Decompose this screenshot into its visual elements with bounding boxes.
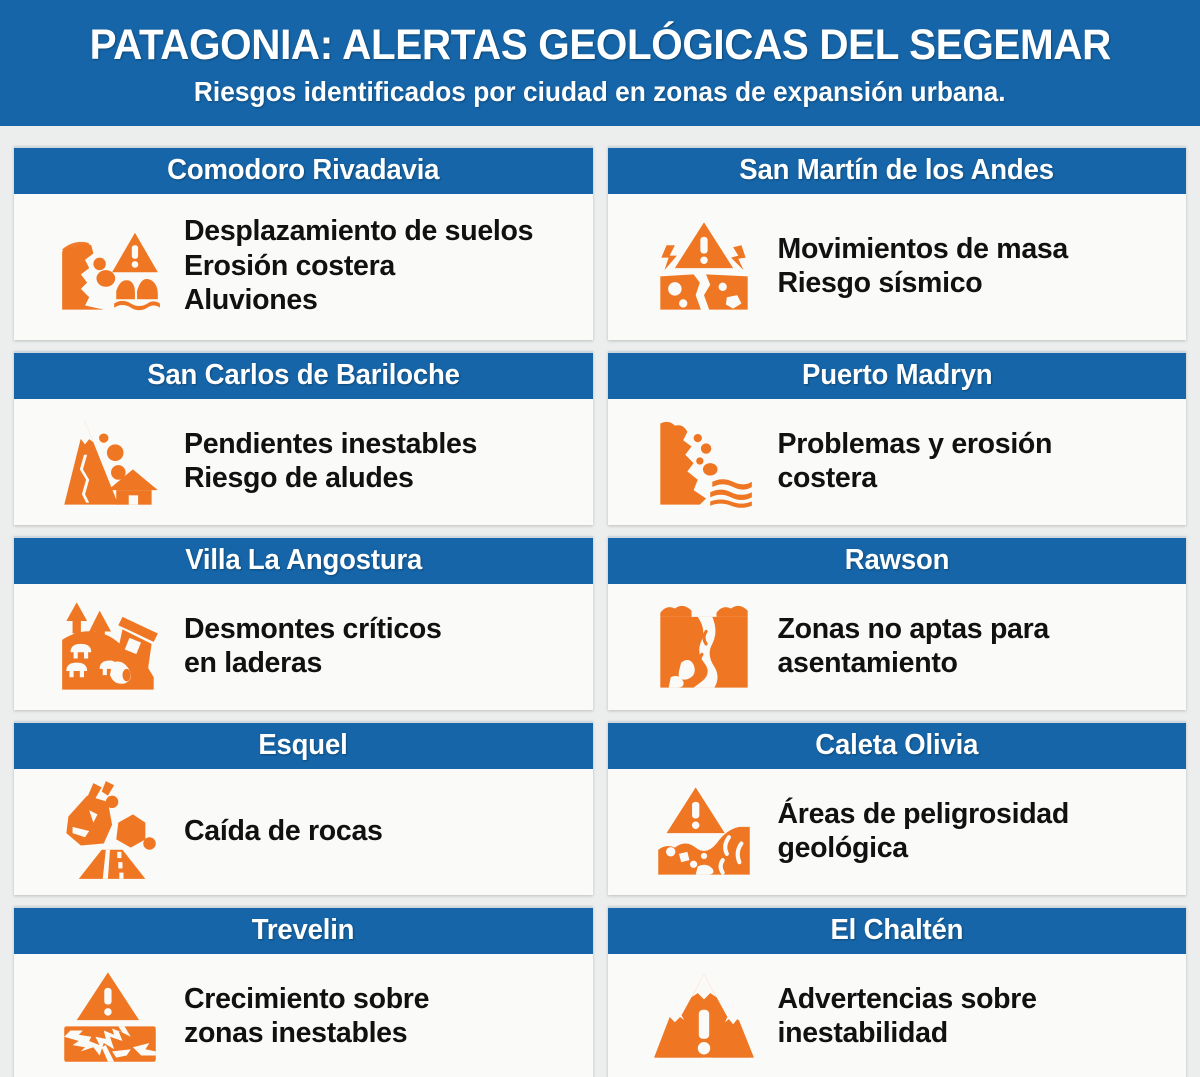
risk-list: Áreas de peligrosidad geológica [778,797,1177,866]
card-body: Desplazamiento de suelos Erosión costera… [14,194,593,340]
page-subtitle: Riesgos identificados por ciudad en zona… [194,77,1006,108]
risk-item: Riesgo de aludes [184,461,583,495]
risk-item: geológica [778,831,1177,865]
risk-item: Crecimiento sobre [184,982,583,1016]
risk-item: Aluviones [184,283,583,317]
page-title: PATAGONIA: ALERTAS GEOLÓGICAS DEL SEGEMA… [89,23,1110,68]
city-card-villa-la-angostura[interactable]: Villa La Angostura [14,536,593,710]
risk-item: zonas inestables [184,1016,583,1050]
risk-list: Caída de rocas [184,814,583,848]
card-body: Problemas y erosión costera [608,399,1187,525]
risk-list: Crecimiento sobre zonas inestables [184,982,583,1051]
card-body: Advertencias sobre inestabilidad [608,954,1187,1077]
city-name: Rawson [845,544,950,577]
card-title-bar: Trevelin [14,906,593,954]
coastal-landslide-warning-icon [58,214,162,318]
card-body: Áreas de peligrosidad geológica [608,769,1187,895]
card-body: Movimientos de masa Riesgo sísmico [608,194,1187,340]
card-title-bar: Caleta Olivia [608,721,1187,769]
city-name: San Carlos de Bariloche [147,359,460,392]
city-card-trevelin[interactable]: Trevelin Crecimiento so [14,906,593,1077]
city-card-san-carlos-de-bariloche[interactable]: San Carlos de Bariloche [14,351,593,525]
rockfall-road-icon [58,779,162,883]
risk-item: Advertencias sobre [778,982,1177,1016]
infographic-page: PATAGONIA: ALERTAS GEOLÓGICAS DEL SEGEMA… [0,0,1200,1077]
risk-list: Zonas no aptas para asentamiento [778,612,1177,681]
city-card-caleta-olivia[interactable]: Caleta Olivia [608,721,1187,895]
mountain-warning-icon [652,964,756,1068]
card-title-bar: Rawson [608,536,1187,584]
city-alert-grid: Comodoro Rivadavia [0,126,1200,1077]
cracked-ground-warning-icon [58,964,162,1068]
card-title-bar: Puerto Madryn [608,351,1187,399]
card-title-bar: Comodoro Rivadavia [14,146,593,194]
risk-item: Pendientes inestables [184,427,583,461]
risk-item: Desplazamiento de suelos [184,214,583,248]
city-name: Puerto Madryn [802,359,992,392]
risk-item: asentamiento [778,646,1177,680]
seismic-warning-icon [652,214,756,318]
risk-list: Movimientos de masa Riesgo sísmico [778,232,1177,301]
geological-hazard-terrain-icon [652,779,756,883]
city-name: Villa La Angostura [185,544,422,577]
risk-item: Riesgo sísmico [778,266,1177,300]
risk-list: Desplazamiento de suelos Erosión costera… [184,214,583,317]
card-title-bar: El Chaltén [608,906,1187,954]
city-name: El Chaltén [830,914,963,947]
mountain-rockfall-house-icon [58,409,162,513]
city-card-puerto-madryn[interactable]: Puerto Madryn Problemas [608,351,1187,525]
risk-item: Caída de rocas [184,814,583,848]
risk-list: Desmontes críticos en laderas [184,612,583,681]
page-header: PATAGONIA: ALERTAS GEOLÓGICAS DEL SEGEMA… [0,0,1200,126]
risk-list: Advertencias sobre inestabilidad [778,982,1177,1051]
risk-item: en laderas [184,646,583,680]
card-title-bar: San Martín de los Andes [608,146,1187,194]
city-card-esquel[interactable]: Esquel [14,721,593,895]
city-name: Trevelin [252,914,355,947]
city-name: Comodoro Rivadavia [167,154,439,187]
hillside-deforestation-icon [58,594,162,698]
city-card-el-chalten[interactable]: El Chaltén Advertencias [608,906,1187,1077]
risk-item: Problemas y erosión [778,427,1177,461]
risk-list: Pendientes inestables Riesgo de aludes [184,427,583,496]
card-body: Caída de rocas [14,769,593,895]
risk-item: Desmontes críticos [184,612,583,646]
card-body: Zonas no aptas para asentamiento [608,584,1187,710]
card-title-bar: Esquel [14,721,593,769]
river-floodplain-icon [652,594,756,698]
card-body: Pendientes inestables Riesgo de aludes [14,399,593,525]
city-card-comodoro-rivadavia[interactable]: Comodoro Rivadavia [14,146,593,340]
risk-item: Áreas de peligrosidad [778,797,1177,831]
risk-item: inestabilidad [778,1016,1177,1050]
risk-item: Movimientos de masa [778,232,1177,266]
risk-list: Problemas y erosión costera [778,427,1177,496]
coastal-erosion-cliff-icon [652,409,756,513]
city-name: San Martín de los Andes [739,154,1054,187]
risk-item: Zonas no aptas para [778,612,1177,646]
city-name: Caleta Olivia [815,729,978,762]
card-title-bar: Villa La Angostura [14,536,593,584]
risk-item: Erosión costera [184,249,583,283]
card-title-bar: San Carlos de Bariloche [14,351,593,399]
card-body: Crecimiento sobre zonas inestables [14,954,593,1077]
city-card-san-martin-de-los-andes[interactable]: San Martín de los Andes [608,146,1187,340]
city-name: Esquel [259,729,348,762]
risk-item: costera [778,461,1177,495]
city-card-rawson[interactable]: Rawson [608,536,1187,710]
card-body: Desmontes críticos en laderas [14,584,593,710]
